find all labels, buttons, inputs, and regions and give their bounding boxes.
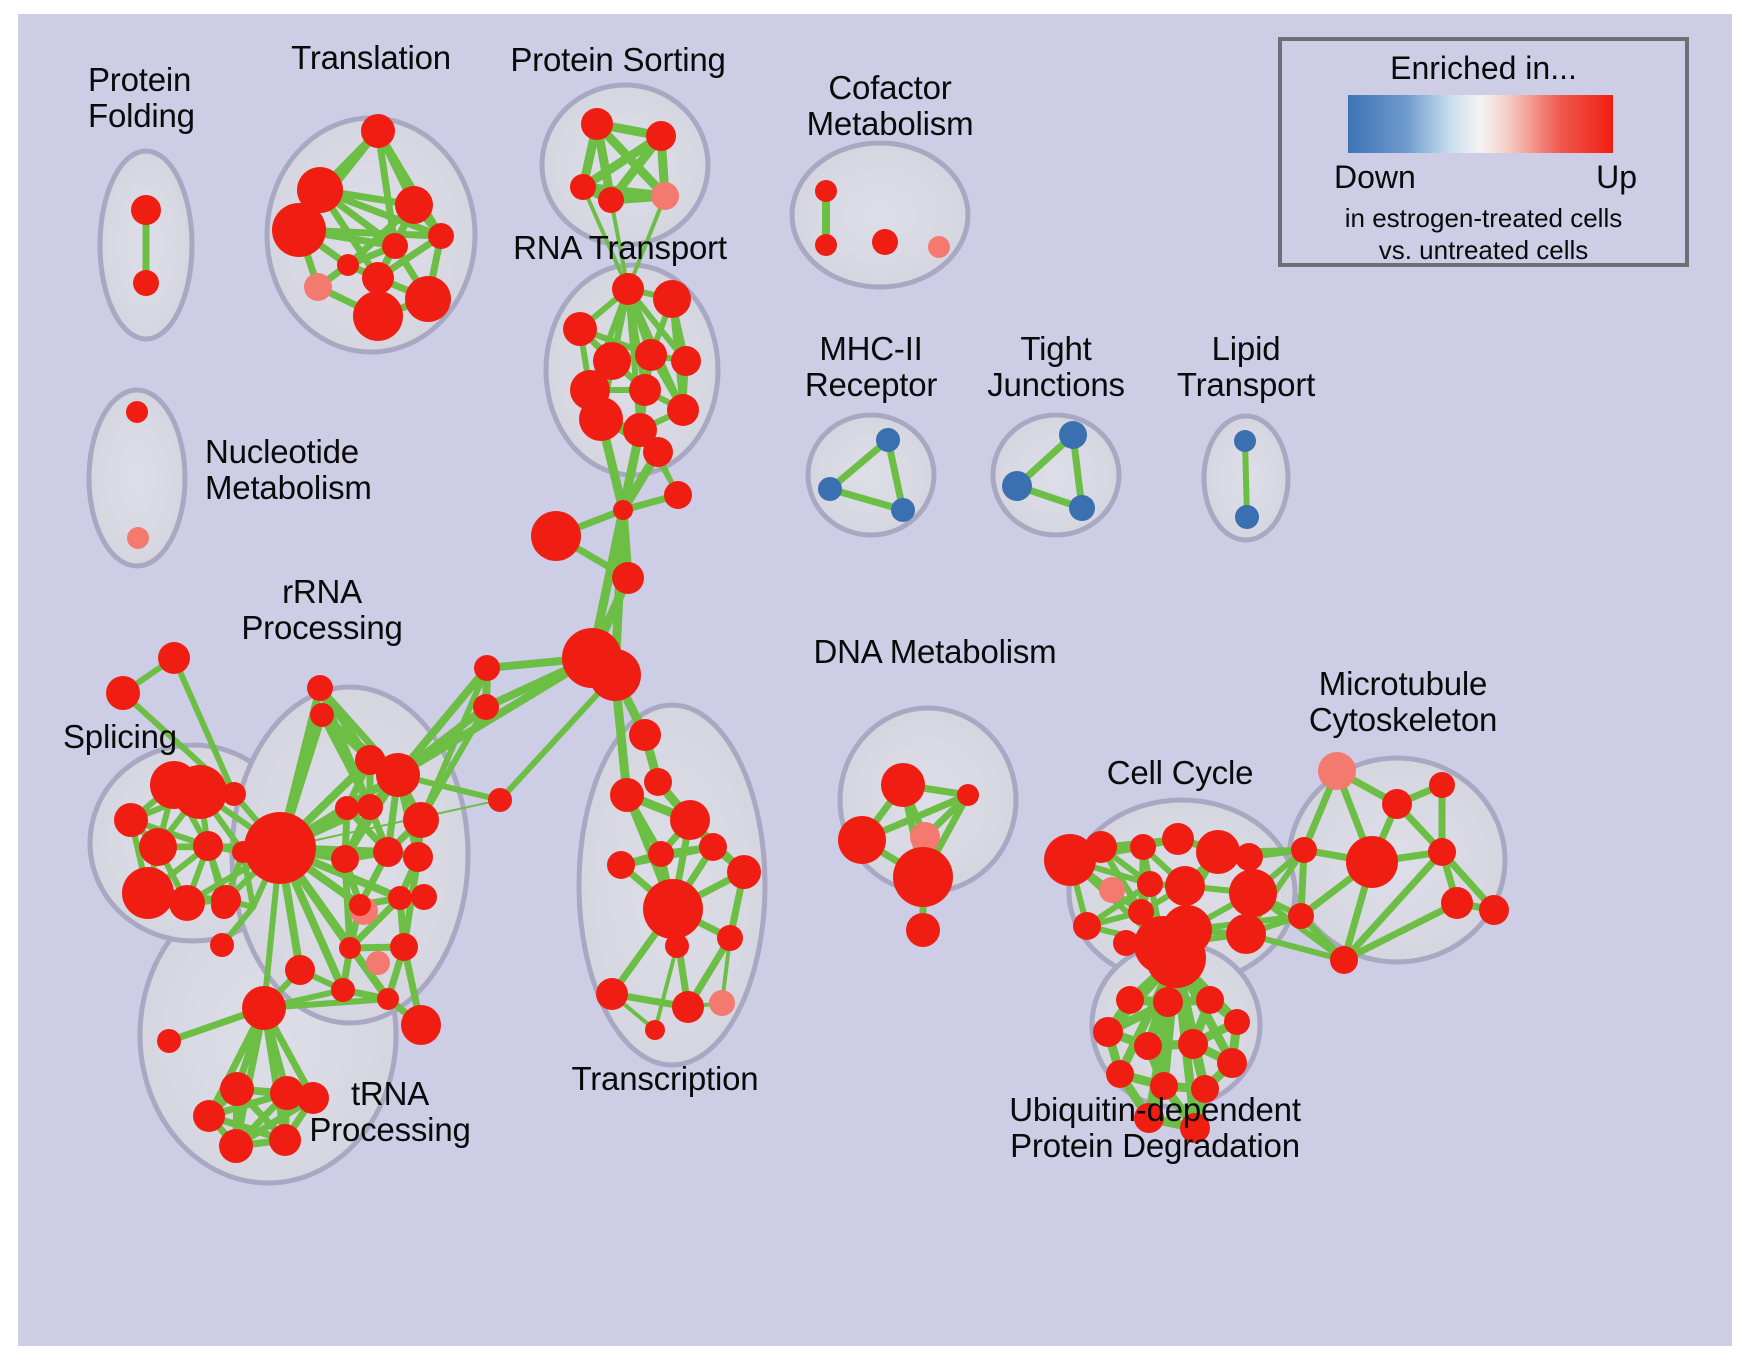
node <box>643 879 703 939</box>
node <box>131 195 161 225</box>
label-splicing: Splicing <box>63 719 177 755</box>
hull-mhc-ii-receptor <box>808 415 934 535</box>
legend-colorbar <box>1348 95 1613 153</box>
node <box>607 851 635 879</box>
node <box>906 913 940 947</box>
node <box>1382 789 1412 819</box>
node <box>613 500 633 520</box>
node <box>1196 986 1224 1014</box>
node <box>285 955 315 985</box>
node <box>1099 877 1125 903</box>
node <box>169 885 205 921</box>
label-transcription: Transcription <box>572 1061 759 1097</box>
node <box>672 991 704 1023</box>
node <box>242 986 286 1030</box>
node <box>1235 505 1259 529</box>
hull-cofactor-metabolism <box>792 143 968 287</box>
node <box>1429 772 1455 798</box>
node <box>1130 834 1156 860</box>
node <box>193 831 223 861</box>
node <box>1291 837 1317 863</box>
node <box>1234 430 1256 452</box>
label-trna-processing: tRNA Processing <box>309 1076 470 1147</box>
node <box>876 428 900 452</box>
node <box>337 254 359 276</box>
label-protein-sorting: Protein Sorting <box>510 42 725 78</box>
node <box>1178 1029 1208 1059</box>
node <box>881 763 925 807</box>
node <box>645 1020 665 1040</box>
node <box>403 842 433 872</box>
node <box>1229 869 1277 917</box>
node <box>349 894 371 916</box>
node <box>671 346 701 376</box>
node <box>244 812 316 884</box>
node <box>1441 887 1473 919</box>
node <box>269 1124 301 1156</box>
node <box>122 867 174 919</box>
label-mhc-ii-receptor: MHC-II Receptor <box>805 331 937 402</box>
node <box>1288 903 1314 929</box>
node <box>646 121 676 151</box>
node <box>653 280 691 318</box>
node <box>488 788 512 812</box>
node <box>1346 836 1398 888</box>
node <box>1217 1048 1247 1078</box>
node <box>173 765 227 819</box>
legend-subtitle-line2: vs. untreated cells <box>1282 235 1685 266</box>
node <box>635 339 667 371</box>
label-nucleotide-metabolism: Nucleotide Metabolism <box>205 434 372 505</box>
node <box>563 312 597 346</box>
node <box>1093 1017 1123 1047</box>
node <box>596 978 628 1010</box>
label-microtubule-cytoskeleton: Microtubule Cytoskeleton <box>1309 666 1497 737</box>
node <box>210 933 234 957</box>
node <box>382 233 408 259</box>
node <box>665 934 689 958</box>
node <box>1069 495 1095 521</box>
node <box>193 1100 225 1132</box>
node <box>629 374 661 406</box>
node <box>629 719 661 751</box>
label-lipid-transport: Lipid Transport <box>1177 331 1315 402</box>
node <box>1428 838 1456 866</box>
node <box>1330 946 1358 974</box>
node <box>1479 895 1509 925</box>
node <box>114 803 148 837</box>
node <box>667 394 699 426</box>
node <box>139 828 177 866</box>
node <box>579 397 623 441</box>
label-translation: Translation <box>291 40 451 76</box>
legend-up-label: Up <box>1596 159 1637 196</box>
node <box>310 703 334 727</box>
node <box>362 262 394 294</box>
node <box>366 951 390 975</box>
node <box>643 437 673 467</box>
node <box>335 796 359 820</box>
node <box>106 676 140 710</box>
node <box>1116 986 1144 1014</box>
node <box>581 108 613 140</box>
hull-protein-sorting <box>542 85 708 245</box>
node <box>589 649 641 701</box>
node <box>126 401 148 423</box>
node <box>1106 1060 1134 1088</box>
figure-canvas: .hull { fill: url(#clusterGrad); stroke:… <box>0 0 1750 1360</box>
node <box>1153 987 1183 1017</box>
node <box>428 223 454 249</box>
node <box>357 794 383 820</box>
node <box>395 186 433 224</box>
node <box>815 180 837 202</box>
node <box>1224 1009 1250 1035</box>
node <box>339 937 361 959</box>
node <box>957 784 979 806</box>
node <box>220 1072 254 1106</box>
node <box>815 234 837 256</box>
node <box>403 802 439 838</box>
node <box>1059 421 1087 449</box>
node <box>727 855 761 889</box>
node <box>353 291 403 341</box>
node <box>928 236 950 258</box>
legend-subtitle-line1: in estrogen-treated cells <box>1282 203 1685 234</box>
node <box>818 477 842 501</box>
legend-box: Enriched in... Down Up in estrogen-treat… <box>1278 37 1689 267</box>
label-cell-cycle: Cell Cycle <box>1107 755 1254 791</box>
node <box>664 481 692 509</box>
node <box>473 694 499 720</box>
node <box>1085 831 1117 863</box>
node <box>376 753 420 797</box>
node <box>1318 752 1356 790</box>
node <box>670 800 710 840</box>
node <box>610 778 644 812</box>
node <box>474 655 500 681</box>
node <box>612 273 644 305</box>
label-ubiquitin-protein-degradation: Ubiquitin-dependent Protein Degradation <box>1009 1092 1301 1163</box>
legend-title: Enriched in... <box>1282 50 1685 87</box>
node <box>127 527 149 549</box>
node <box>304 273 332 301</box>
node <box>219 1129 253 1163</box>
node <box>893 847 953 907</box>
label-dna-metabolism: DNA Metabolism <box>814 634 1057 670</box>
node <box>699 833 727 861</box>
node <box>158 642 190 674</box>
node <box>272 203 326 257</box>
legend-down-label: Down <box>1334 159 1416 196</box>
node <box>838 816 886 864</box>
label-rna-transport: RNA Transport <box>513 230 727 266</box>
node <box>1134 1032 1162 1060</box>
node <box>717 925 743 951</box>
node <box>1073 912 1101 940</box>
node <box>133 270 159 296</box>
node <box>891 498 915 522</box>
node <box>1235 843 1263 871</box>
label-protein-folding: Protein Folding <box>88 62 195 133</box>
node <box>648 841 674 867</box>
node <box>570 174 596 200</box>
node <box>390 933 418 961</box>
node <box>411 884 437 910</box>
node <box>361 114 395 148</box>
node <box>373 837 403 867</box>
node <box>405 276 451 322</box>
node <box>1165 866 1205 906</box>
node <box>1162 823 1194 855</box>
node <box>598 187 624 213</box>
node <box>612 562 644 594</box>
node <box>331 978 355 1002</box>
label-rrna-processing: rRNA Processing <box>241 574 402 645</box>
node <box>709 990 735 1016</box>
label-cofactor-metabolism: Cofactor Metabolism <box>807 70 974 141</box>
node <box>1002 471 1032 501</box>
node <box>1196 830 1240 874</box>
node <box>1226 914 1266 954</box>
node <box>331 845 359 873</box>
node <box>1146 928 1206 988</box>
node <box>307 675 333 701</box>
node <box>872 229 898 255</box>
label-tight-junctions: Tight Junctions <box>987 331 1125 402</box>
node <box>401 1005 441 1045</box>
node <box>388 886 412 910</box>
node <box>1137 871 1163 897</box>
node <box>531 511 581 561</box>
node <box>211 893 237 919</box>
node <box>377 988 399 1010</box>
node <box>157 1029 181 1053</box>
node <box>644 768 672 796</box>
node <box>651 182 679 210</box>
